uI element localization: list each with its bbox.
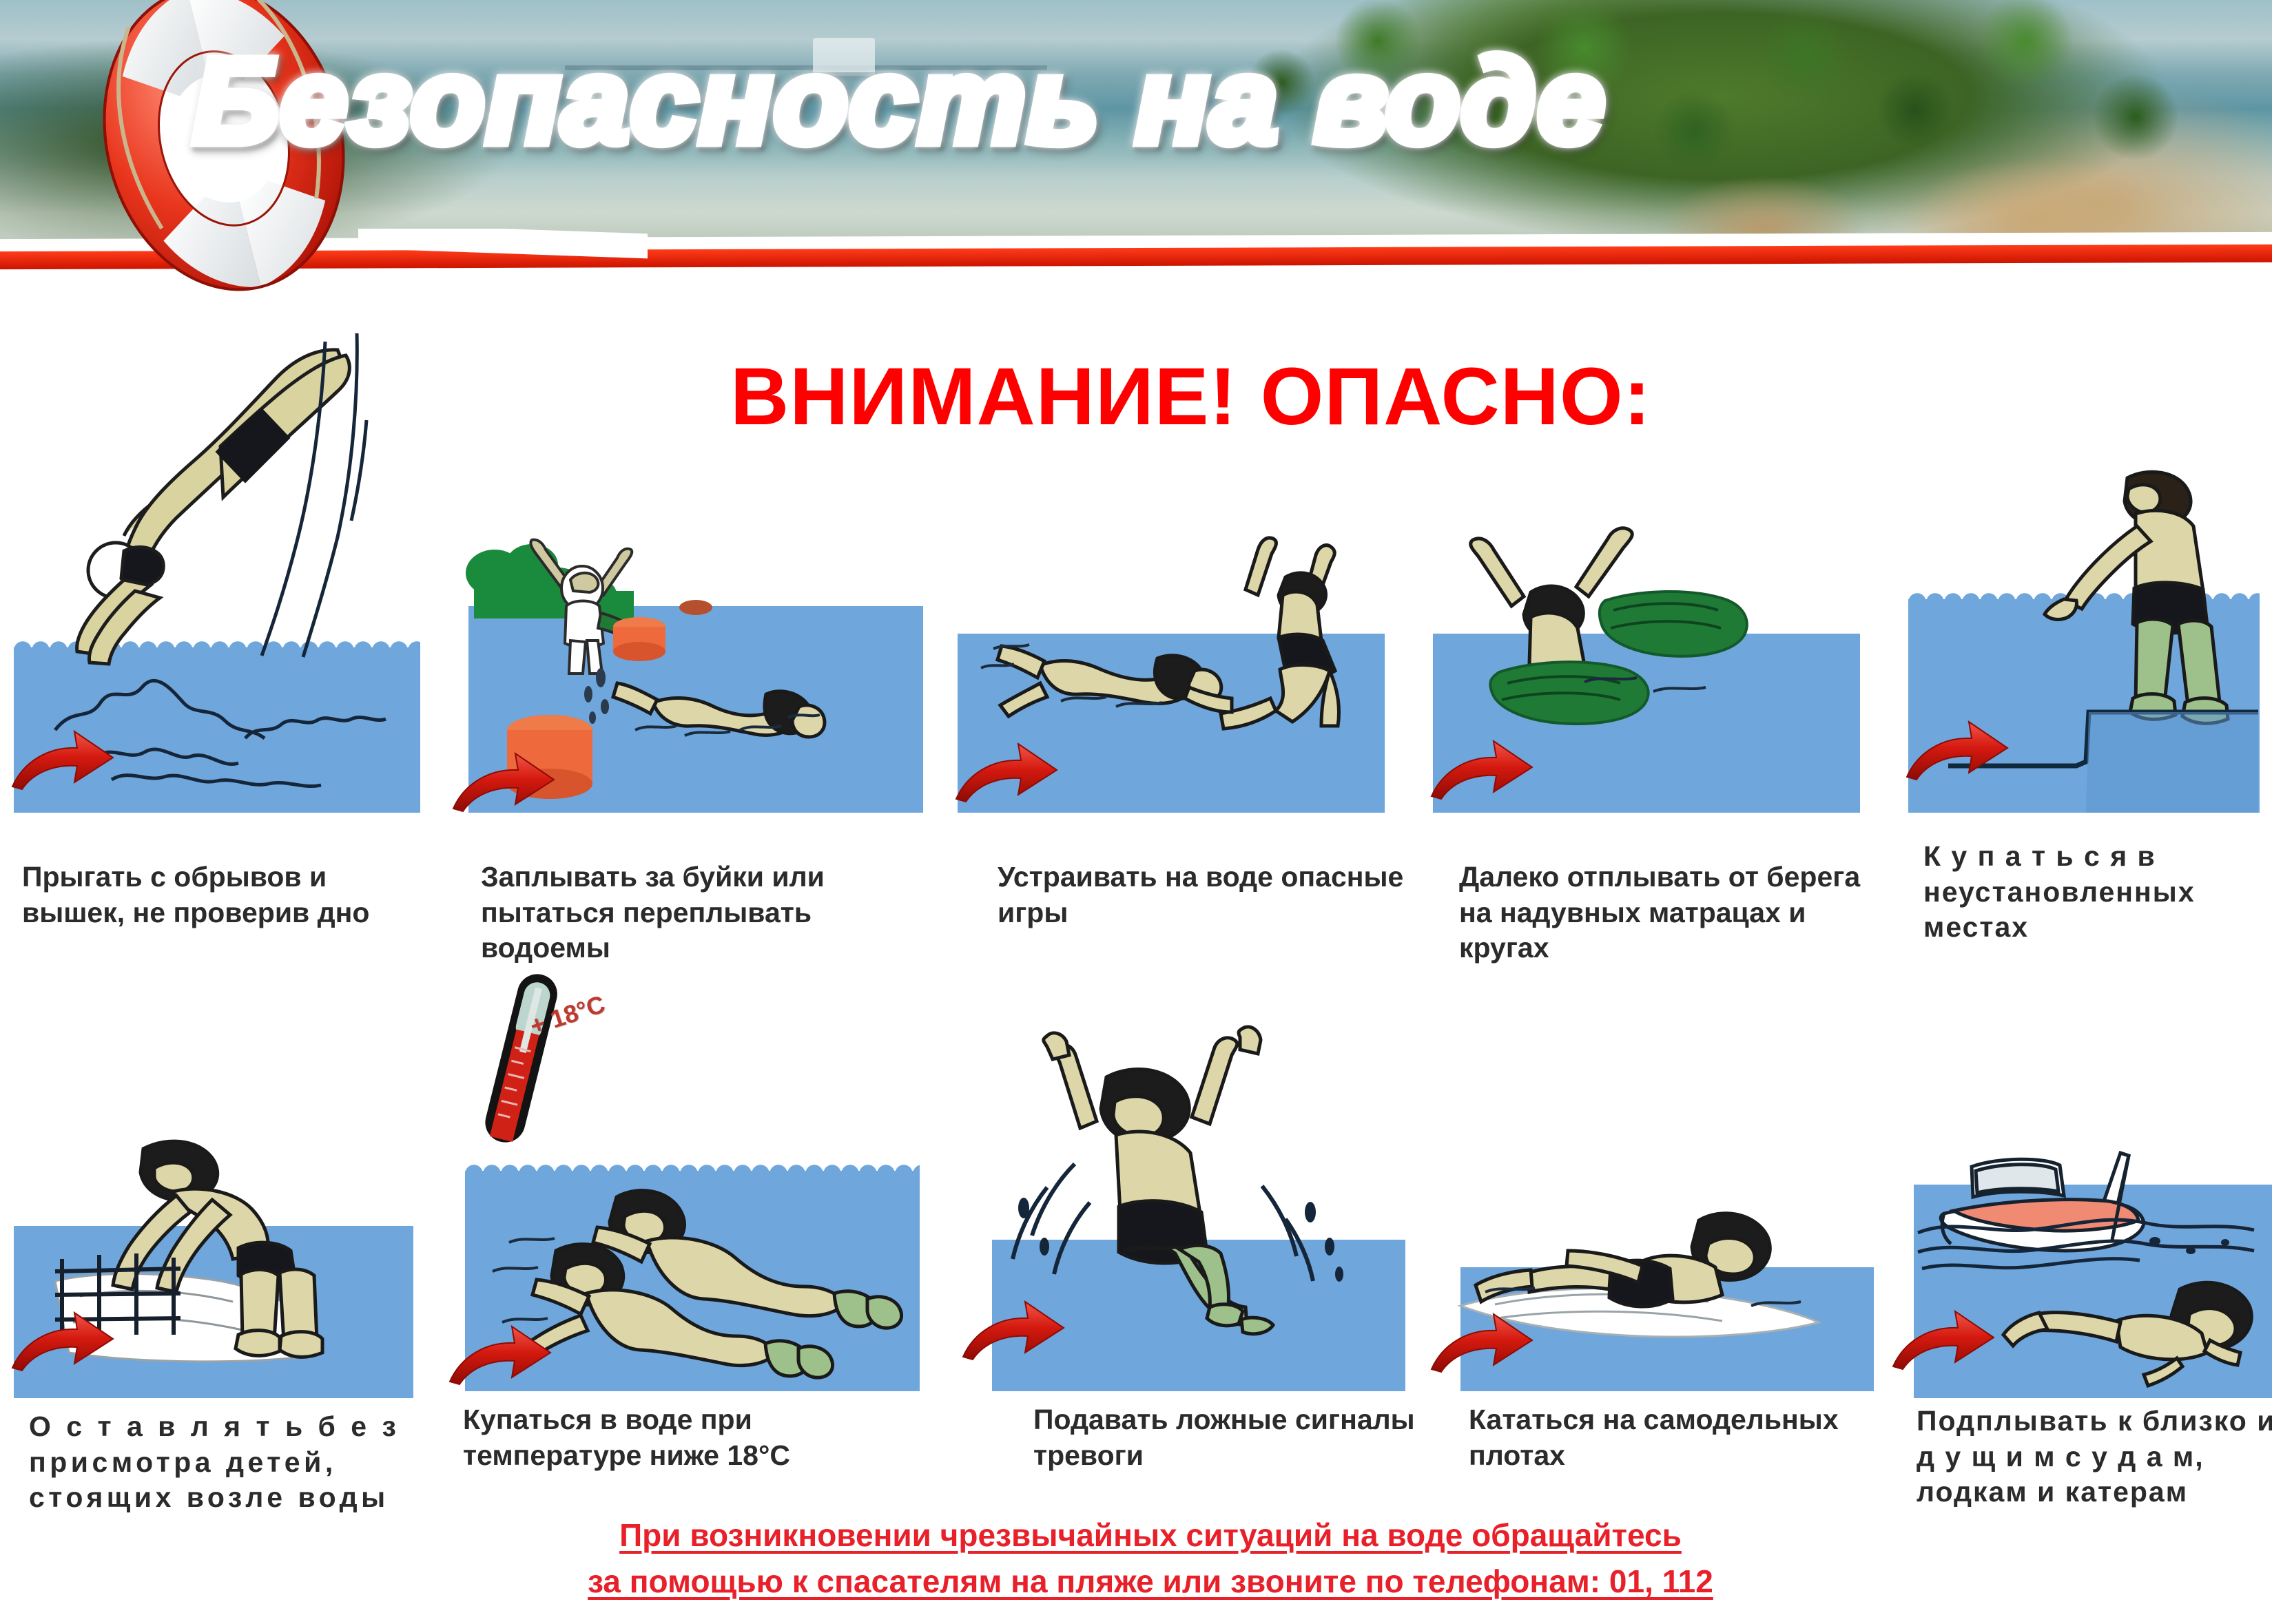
panel-cliff-jump — [14, 317, 420, 813]
panel-dangerous-games — [958, 523, 1412, 813]
caption-past-buoys: Заплывать за буйки или пытаться переплыв… — [481, 860, 908, 966]
caption-unattended-children: О с т а в л я т ь б е з присмотра детей,… — [29, 1409, 422, 1516]
panel-unattended-children — [14, 1074, 427, 1398]
warning-arrow-icon — [452, 749, 555, 813]
warning-arrow-icon — [1906, 718, 2009, 781]
panel-past-buoys — [455, 530, 923, 813]
warning-arrow-icon — [448, 1322, 552, 1386]
caption-homemade-rafts: Кататься на самодельных плотах — [1469, 1402, 1882, 1473]
warning-arrow-icon — [1892, 1307, 1995, 1371]
panel-false-alarm — [964, 1019, 1419, 1391]
page-title-text: Безопасность на воде — [193, 34, 1607, 169]
notice-line-2: за помощью к спасателям на пляже или зво… — [588, 1563, 1713, 1599]
warning-arrow-icon — [11, 727, 114, 791]
panel-near-boats — [1901, 1129, 2272, 1398]
panel-unmarked-places — [1908, 441, 2272, 813]
emergency-notice: При возникновении чрезвычайных ситуаций … — [441, 1512, 1860, 1604]
page-title: Безопасность на воде Безопасность на вод… — [193, 32, 1607, 171]
warning-arrow-icon — [962, 1298, 1065, 1361]
panel-cold-water — [451, 1116, 927, 1391]
caption-inflatables: Далеко отплывать от берега на надувных м… — [1459, 860, 1879, 966]
caption-cold-water: Купаться в воде при температуре ниже 18°… — [463, 1402, 918, 1473]
warning-arrow-icon — [955, 740, 1058, 803]
caption-cliff-jump: Прыгать с обрывов и вышек, не проверив д… — [22, 860, 408, 930]
caption-false-alarm: Подавать ложные сигналы тревоги — [1033, 1402, 1447, 1473]
panel-inflatables — [1433, 510, 1888, 813]
warning-arrow-icon — [1430, 737, 1533, 800]
caption-near-boats: Подплывать к близко и д у щ и м с у д а … — [1917, 1404, 2272, 1510]
caption-unmarked-places: К у п а т ь с я в неустановленных местах — [1923, 839, 2272, 946]
thermometer-illustration: + 18°C — [468, 968, 627, 1154]
notice-line-1: При возникновении чрезвычайных ситуаций … — [619, 1517, 1682, 1553]
warning-arrow-icon — [11, 1309, 114, 1372]
danger-headline: ВНИМАНИЕ! ОПАСНО: — [730, 350, 1651, 444]
panel-homemade-rafts — [1433, 1157, 1888, 1391]
caption-dangerous-games: Устраивать на воде опасные игры — [998, 860, 1411, 930]
warning-arrow-icon — [1430, 1310, 1533, 1373]
